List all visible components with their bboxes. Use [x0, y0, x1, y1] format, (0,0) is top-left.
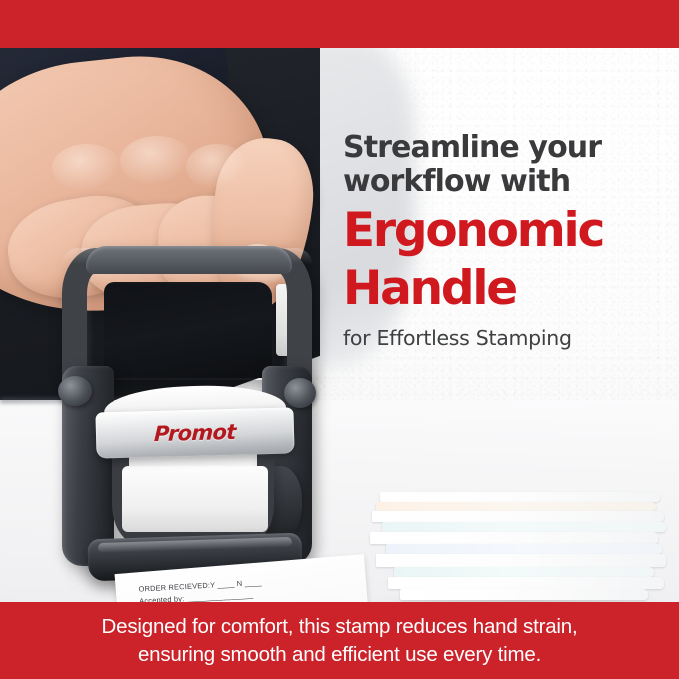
stack-sheet	[380, 492, 660, 502]
caption-text: Designed for comfort, this stamp reduces…	[86, 613, 594, 667]
knuckle-highlight-1	[52, 144, 122, 192]
bottom-caption-bar: Designed for comfort, this stamp reduces…	[0, 602, 679, 679]
stack-sheet	[376, 502, 656, 511]
paper-stack	[366, 488, 666, 602]
stamp-pivot-knob-right	[284, 378, 316, 408]
stack-sheet	[376, 554, 666, 567]
headline-emphasis-2: Handle	[343, 265, 663, 313]
product-marketing-banner: ORDER RECIEVED:Y ____ N ____ Accepted by…	[0, 0, 679, 679]
brand-logo: Promot	[154, 420, 237, 446]
headline-block: Streamline your workflow with Ergonomic …	[343, 131, 663, 351]
headline-line-1: Streamline your	[343, 131, 663, 165]
stack-sheet	[382, 522, 666, 532]
stamp-pivot-knob-left	[58, 376, 92, 406]
stack-sheet	[386, 544, 662, 554]
top-accent-bar	[0, 0, 679, 48]
stamp-die-plate	[122, 466, 268, 532]
stack-sheet	[394, 567, 654, 577]
stamp-imprint-text: ORDER RECIEVED:Y ____ N ____ Accepted by…	[138, 571, 360, 602]
stack-sheet	[400, 589, 648, 600]
knuckle-highlight-2	[120, 136, 194, 186]
stack-sheet	[370, 532, 658, 544]
caption-line-2: ensuring smooth and efficient use every …	[102, 641, 578, 668]
stamp-grip-pad	[86, 246, 292, 274]
headline-subhead: for Effortless Stamping	[343, 326, 663, 351]
caption-line-1: Designed for comfort, this stamp reduces…	[102, 615, 578, 638]
headline-line-2: workflow with	[343, 165, 663, 199]
headline-emphasis-1: Ergonomic	[343, 207, 663, 255]
stack-sheet	[388, 577, 664, 589]
stack-sheet	[372, 511, 664, 522]
knuckle-highlight-3	[186, 144, 248, 190]
stamp-logo-band: Promot	[95, 407, 294, 458]
